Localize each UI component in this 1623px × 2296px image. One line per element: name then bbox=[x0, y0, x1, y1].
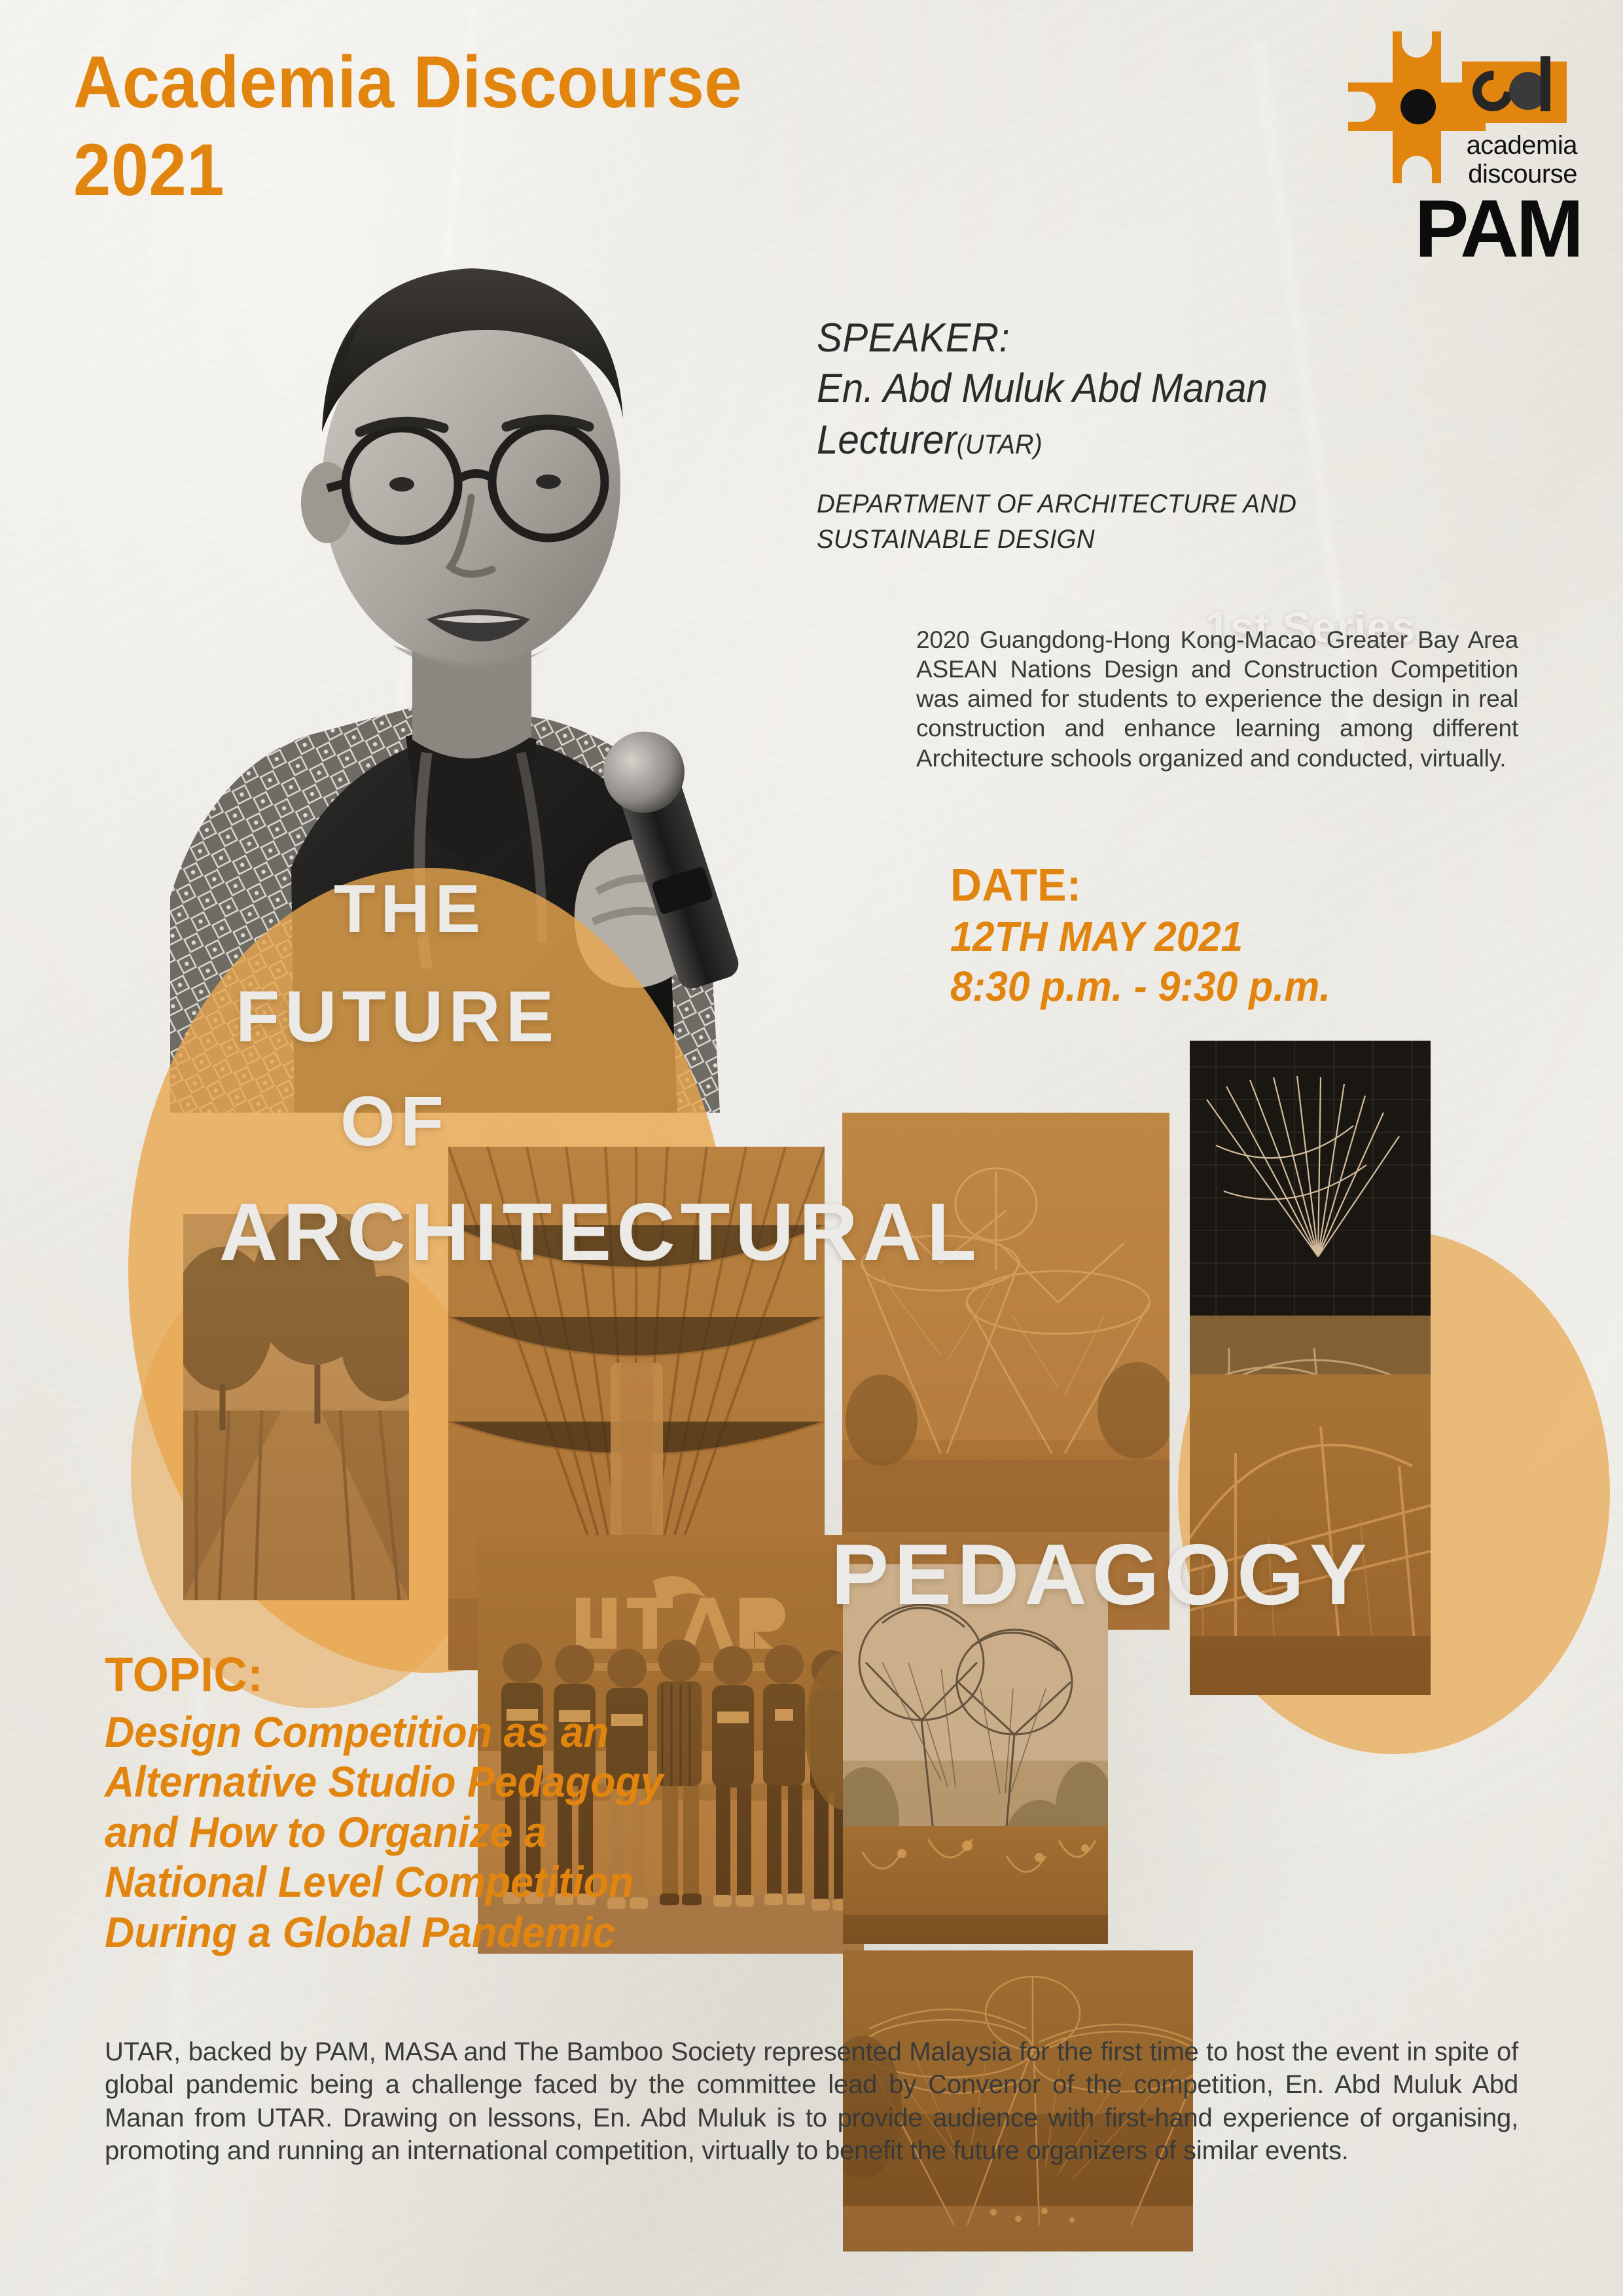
speaker-department-line-2: SUSTAINABLE DESIGN bbox=[817, 522, 1558, 556]
topic-line: and How to Organize a bbox=[105, 1807, 664, 1857]
competition-blurb: 2020 Guangdong-Hong Kong-Macao Greater B… bbox=[916, 625, 1518, 773]
collage-photo-lantern-deck bbox=[843, 1826, 1108, 1944]
date-block: DATE: 12TH MAY 2021 8:30 p.m. - 9:30 p.m… bbox=[950, 861, 1351, 1009]
topic-line: National Level Competition bbox=[105, 1857, 664, 1907]
logo-word-academia: academia bbox=[1467, 132, 1577, 159]
speaker-label: SPEAKER: bbox=[817, 314, 1543, 362]
collage-photo-canopy-structures bbox=[842, 1113, 1169, 1630]
speaker-info-block: SPEAKER: En. Abd Muluk Abd Manan Lecture… bbox=[817, 314, 1589, 556]
topic-lines: Design Competition as an Alternative Stu… bbox=[105, 1707, 692, 1958]
collage-photo-pathway bbox=[183, 1214, 409, 1600]
topic-line: Alternative Studio Pedagogy bbox=[105, 1757, 664, 1807]
poster-canvas: Academia Discourse 2021 academia discour… bbox=[0, 0, 1623, 2296]
date-day: 12TH MAY 2021 bbox=[950, 914, 1330, 960]
collage-photo-bamboo-bridge bbox=[1190, 1374, 1431, 1695]
topic-line: During a Global Pandemic bbox=[105, 1907, 664, 1958]
date-time: 8:30 p.m. - 9:30 p.m. bbox=[950, 963, 1330, 1009]
topic-line: Design Competition as an bbox=[105, 1707, 664, 1757]
logo-dot-icon bbox=[1400, 89, 1436, 124]
date-label: DATE: bbox=[950, 861, 1330, 910]
title-line-1: Academia Discourse bbox=[73, 46, 742, 119]
speaker-role: Lecturer(UTAR) bbox=[817, 416, 1543, 465]
cd-monogram-icon bbox=[1462, 62, 1567, 123]
logo-pam-text: PAM bbox=[1415, 188, 1581, 270]
page-title: Academia Discourse 2021 bbox=[73, 46, 800, 207]
pam-academia-discourse-logo: academia discourse PAM bbox=[1334, 20, 1582, 295]
topic-label: TOPIC: bbox=[105, 1649, 669, 1700]
topic-block: TOPIC: Design Competition as an Alternat… bbox=[105, 1649, 692, 1957]
speaker-affiliation: (UTAR) bbox=[957, 429, 1043, 459]
speaker-name: En. Abd Muluk Abd Manan bbox=[817, 365, 1543, 413]
speaker-department-line-1: DEPARTMENT OF ARCHITECTURE AND bbox=[817, 487, 1558, 521]
title-line-2: 2021 bbox=[73, 134, 742, 207]
speaker-role-text: Lecturer bbox=[817, 418, 957, 463]
footer-description: UTAR, backed by PAM, MASA and The Bamboo… bbox=[105, 2036, 1518, 2168]
